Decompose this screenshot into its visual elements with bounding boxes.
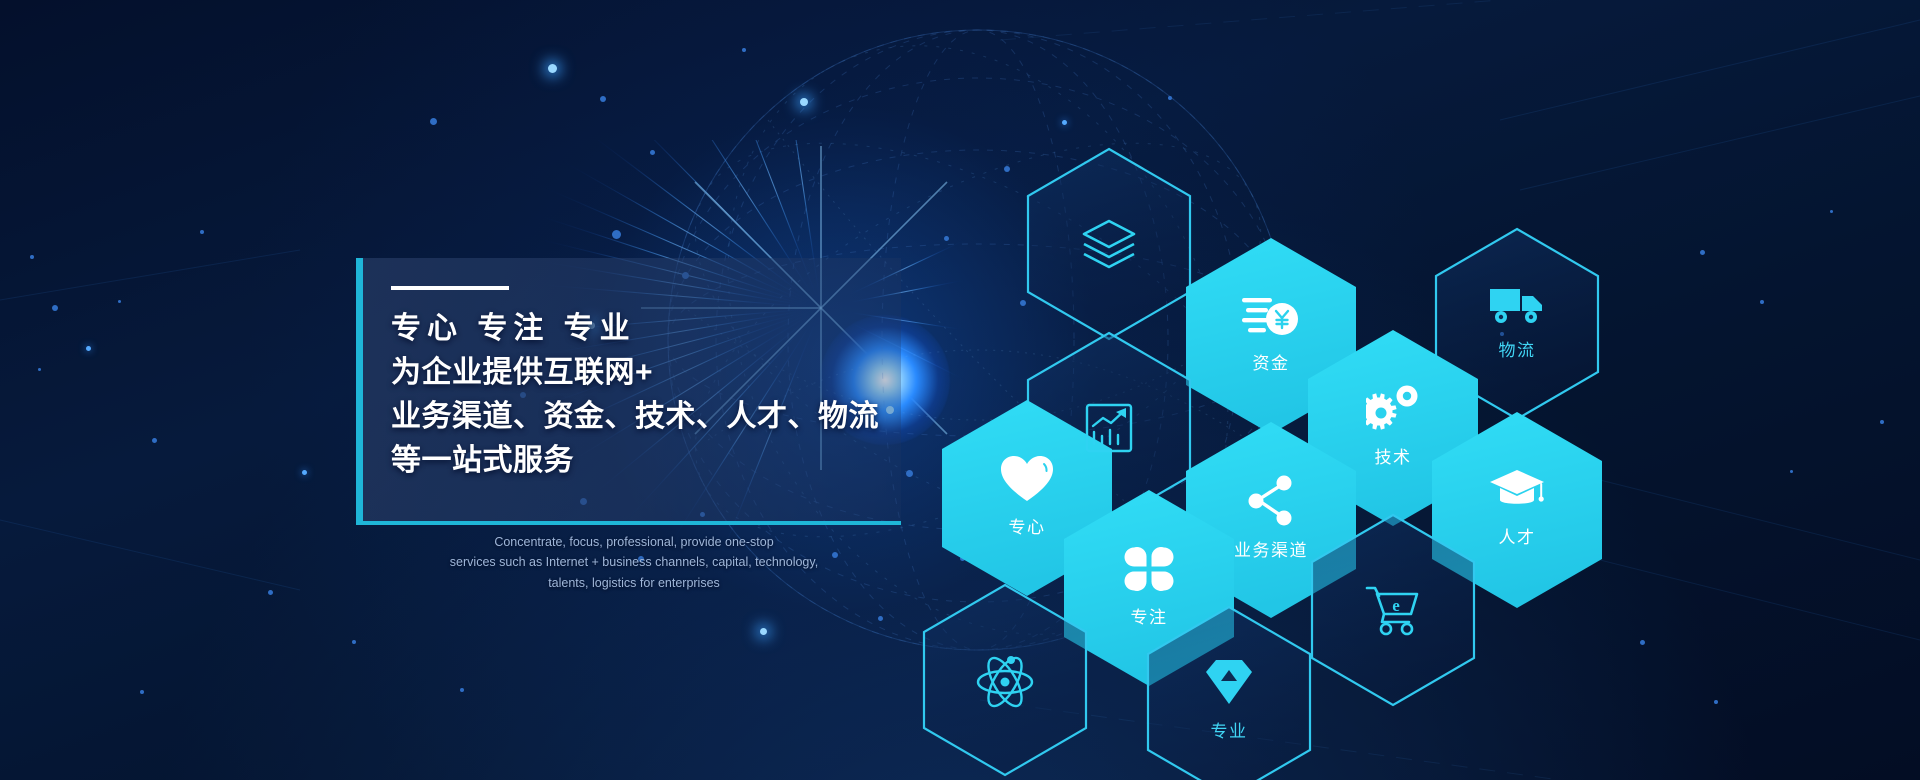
- diamond-gem-icon: [1204, 658, 1254, 708]
- headline-line-2: 为企业提供互联网+: [391, 351, 901, 395]
- headline-line-1: 专心 专注 专业: [391, 307, 901, 351]
- shopping-cart-e-icon: e: [1365, 584, 1421, 636]
- hex-professional[interactable]: 专业: [1144, 604, 1314, 780]
- gears-icon: [1366, 384, 1420, 434]
- hex-label: 人才: [1499, 523, 1536, 548]
- hex-label: 技术: [1375, 443, 1412, 468]
- subtitle-line-3: talents, logistics for enterprises: [424, 573, 844, 593]
- chart-growth-icon: [1084, 402, 1134, 454]
- hex-label: 专心: [1009, 513, 1046, 538]
- hex-label: 资金: [1253, 349, 1290, 374]
- hex-ecommerce[interactable]: e: [1308, 512, 1478, 708]
- title-rule: [391, 286, 509, 290]
- share-nodes-icon: [1245, 475, 1297, 527]
- layers-icon: [1079, 217, 1139, 271]
- hex-label: 业务渠道: [1234, 536, 1308, 561]
- clover-icon: [1124, 544, 1174, 594]
- hex-layers[interactable]: [1024, 146, 1194, 342]
- hero-banner: 资金: [0, 0, 1920, 780]
- svg-text:e: e: [1392, 596, 1400, 615]
- hex-atom[interactable]: [920, 582, 1090, 778]
- subtitle-line-2: services such as Internet + business cha…: [424, 552, 844, 572]
- headline-line-3: 业务渠道、资金、技术、人才、物流: [391, 395, 901, 439]
- headline-line-4: 等一站式服务: [391, 439, 901, 483]
- headline-panel: 专心 专注 专业 为企业提供互联网+ 业务渠道、资金、技术、人才、物流 等一站式…: [356, 258, 901, 525]
- subtitle-line-1: Concentrate, focus, professional, provid…: [424, 532, 844, 552]
- hex-label: 专业: [1211, 717, 1248, 742]
- yen-money-icon: [1242, 294, 1300, 340]
- subtitle-block: Concentrate, focus, professional, provid…: [424, 532, 844, 593]
- truck-icon: [1488, 283, 1546, 327]
- atom-icon: [975, 652, 1035, 708]
- hex-label: 专注: [1131, 603, 1168, 628]
- graduation-cap-icon: [1489, 468, 1545, 514]
- heart-icon: [999, 454, 1055, 504]
- hex-label: 物流: [1499, 336, 1536, 361]
